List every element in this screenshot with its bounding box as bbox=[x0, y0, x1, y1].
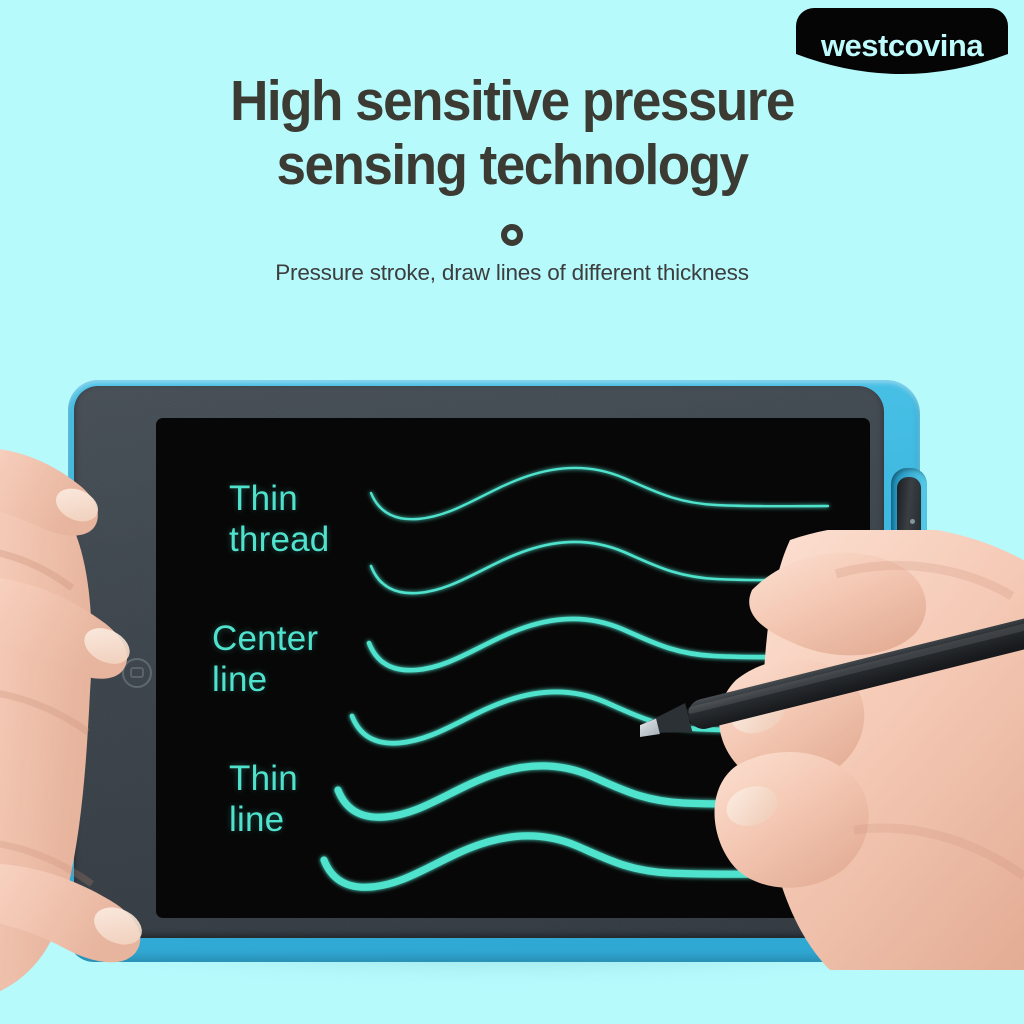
stroke-thin-thread-2 bbox=[371, 542, 828, 593]
stroke-center-line-1 bbox=[369, 619, 828, 670]
tablet-screen[interactable]: Thin thread Center line Thin line bbox=[156, 418, 870, 918]
screen-label-thin-thread: Thin thread bbox=[229, 478, 329, 561]
ring-ornament-icon bbox=[501, 224, 523, 246]
brand-name: westcovina bbox=[821, 30, 983, 61]
headline: High sensitive pressure sensing technolo… bbox=[36, 70, 988, 198]
screen-label-center-line: Center line bbox=[212, 618, 318, 701]
stylus-in-holder bbox=[897, 477, 921, 573]
erase-button-icon[interactable] bbox=[122, 658, 152, 688]
product-marketing-image: westcovina High sensitive pressure sensi… bbox=[0, 0, 1024, 1024]
headline-line-1: High sensitive pressure bbox=[36, 70, 988, 134]
stroke-thin-thread-1 bbox=[371, 468, 828, 519]
tablet-frame: Thin thread Center line Thin line bbox=[68, 380, 920, 962]
subtitle: Pressure stroke, draw lines of different… bbox=[0, 260, 1024, 286]
stroke-thin-line-1 bbox=[338, 766, 826, 817]
stroke-center-line-2 bbox=[352, 692, 806, 743]
headline-line-2: sensing technology bbox=[36, 134, 988, 198]
screen-label-thin-line: Thin line bbox=[229, 758, 298, 841]
stroke-thin-line-2 bbox=[324, 836, 824, 887]
tablet-bezel: Thin thread Center line Thin line bbox=[74, 386, 884, 938]
